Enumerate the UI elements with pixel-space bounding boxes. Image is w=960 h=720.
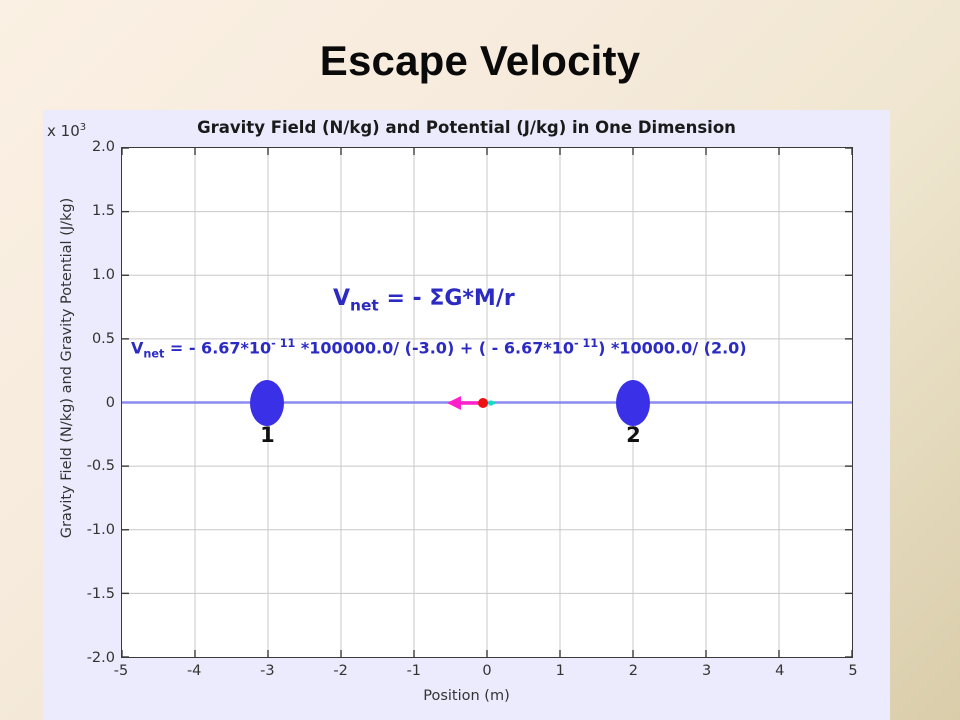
plot-svg [122,148,852,657]
x-tick-label: -4 [171,663,217,679]
equation-numeric-exp-a: - 11 [271,337,295,350]
y-tick-label: 1.5 [45,203,115,219]
plot-area [121,147,853,658]
y-tick-label: -0.5 [45,458,115,474]
x-tick-label: 3 [684,663,730,679]
y-axis-ticks: 2.01.51.00.50-0.5-1.0-1.5-2.0 [43,147,115,658]
equation-general-lhs-sub: net [350,296,379,314]
equation-numeric-exp-b: - 11 [574,337,598,350]
equation-numeric-lhs: V [131,338,143,357]
y-tick-label: -1.5 [45,586,115,602]
chart-title: Gravity Field (N/kg) and Potential (J/kg… [43,118,890,137]
x-tick-label: 5 [830,663,876,679]
y-axis-multiplier-base: x 10 [47,122,80,140]
y-tick-label: 1.0 [45,267,115,283]
equation-numeric-part-a: = - 6.67*10 [164,338,271,357]
x-tick-label: 4 [757,663,803,679]
page-title: Escape Velocity [0,38,960,84]
x-tick-label: 2 [610,663,656,679]
x-tick-label: -1 [391,663,437,679]
x-axis-label: Position (m) [43,688,890,704]
equation-numeric-part-c: ) *10000.0/ (2.0) [598,338,747,357]
equation-numeric: Vnet = - 6.67*10- 11 *100000.0/ (-3.0) +… [131,337,747,361]
y-tick-label: 2.0 [45,139,115,155]
equation-numeric-lhs-sub: net [143,348,164,361]
y-axis-multiplier-exponent: 3 [80,122,86,133]
x-tick-label: 0 [464,663,510,679]
y-tick-label: -1.0 [45,522,115,538]
equation-general-lhs: V [333,286,350,311]
x-tick-label: -3 [244,663,290,679]
x-tick-label: -5 [98,663,144,679]
figure-panel: Gravity Field (N/kg) and Potential (J/kg… [43,110,890,720]
x-tick-label: 1 [537,663,583,679]
slide: Escape Velocity Gravity Field (N/kg) and… [0,0,960,720]
y-axis-multiplier: x 103 [47,122,86,140]
equation-general: Vnet = - ΣG*M/r [333,286,515,314]
equation-general-rhs: = - ΣG*M/r [379,286,515,311]
y-tick-label: 0 [45,395,115,411]
y-tick-label: 0.5 [45,331,115,347]
x-tick-label: -2 [318,663,364,679]
equation-numeric-part-b: *100000.0/ (-3.0) + ( - 6.67*10 [295,338,574,357]
x-axis-ticks: -5-4-3-2-1012345 [121,663,853,685]
